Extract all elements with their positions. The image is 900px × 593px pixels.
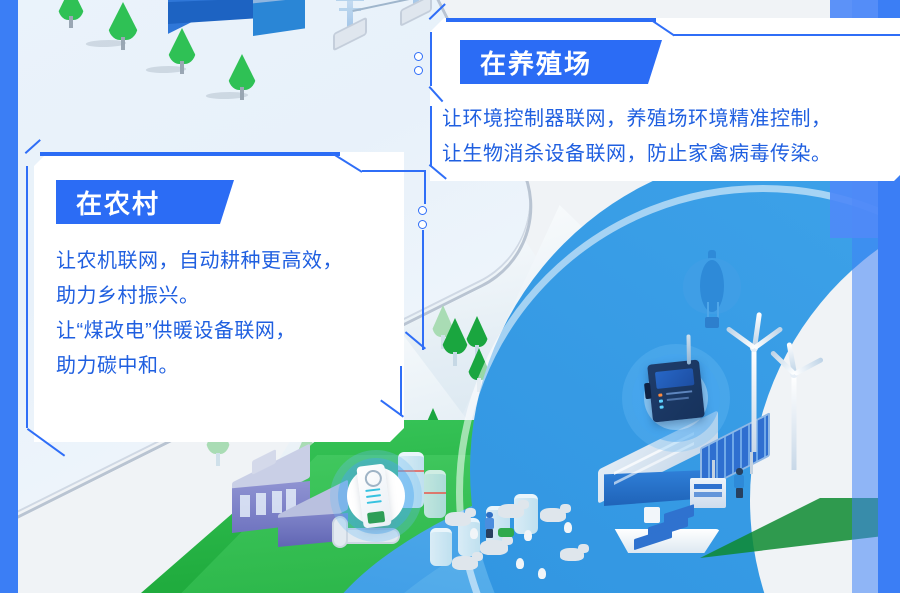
chicken-icon <box>516 558 524 569</box>
cow-icon <box>498 504 524 518</box>
industrial-building-icon <box>253 0 313 46</box>
left-edge-bar <box>0 0 18 593</box>
chicken-icon <box>564 522 572 533</box>
farmer-icon <box>733 468 745 498</box>
iot-gateway-device-icon <box>647 359 705 422</box>
farmer-icon <box>484 512 494 538</box>
sensor-port-icon <box>367 511 385 524</box>
antenna-icon <box>686 334 691 364</box>
ship-bridge <box>644 507 660 523</box>
cow-icon <box>452 556 478 570</box>
solar-panel-leg <box>750 452 753 474</box>
cabinet-slot <box>694 484 722 489</box>
cow-icon <box>445 512 471 526</box>
pine-tree-icon <box>58 0 84 28</box>
hot-air-balloon-icon <box>683 250 741 328</box>
gateway-led <box>659 405 663 408</box>
gateway-screen <box>655 368 695 389</box>
chicken-icon <box>524 530 532 541</box>
balloon-rope <box>717 302 719 318</box>
balloon-rope <box>707 302 709 318</box>
gateway-label-line <box>667 397 689 401</box>
gateway-led <box>658 393 662 396</box>
gateway-led <box>659 399 663 402</box>
storage-tank-icon <box>424 470 446 518</box>
sensor-indicator <box>365 488 380 492</box>
chicken-icon <box>538 568 546 579</box>
cargo-ship-icon <box>608 505 720 553</box>
sensor-indicator <box>367 500 382 504</box>
pine-tree-icon <box>442 318 468 366</box>
chicken-icon <box>470 528 478 539</box>
gateway-label-line <box>666 390 692 395</box>
card-farm: 在养殖场 让环境控制器联网，养殖场环境精准控制， 让生物消杀设备联网，防止家禽病… <box>430 18 900 181</box>
cabinet-slot <box>694 492 722 497</box>
tank-stripe <box>424 492 446 494</box>
balloon-basket <box>705 317 719 328</box>
sensor-indicator <box>366 494 381 498</box>
wind-turbine-icon <box>764 358 824 470</box>
cow-icon <box>560 548 584 561</box>
gateway-port <box>644 383 652 400</box>
poster-canvas: 在农村 让农机联网，自动耕种更高效， 助力乡村振兴。 让“煤改电”供暖设备联网，… <box>0 0 900 593</box>
card-countryside-badge: 在农村 <box>56 180 234 224</box>
balloon-envelope <box>683 258 741 314</box>
card-farm-badge: 在养殖场 <box>460 40 662 84</box>
feed-trough-icon <box>498 528 514 537</box>
sensor-dial-icon <box>364 469 383 488</box>
cow-icon <box>540 508 566 522</box>
card-countryside-body: 让农机联网，自动耕种更高效， 助力乡村振兴。 让“煤改电”供暖设备联网， 助力碳… <box>56 244 386 384</box>
storage-tank-icon <box>430 528 452 566</box>
card-farm-body: 让环境控制器联网，养殖场环境精准控制， 让生物消杀设备联网，防止家禽病毒传染。 <box>442 102 900 172</box>
card-countryside: 在农村 让农机联网，自动耕种更高效， 助力乡村振兴。 让“煤改电”供暖设备联网，… <box>34 152 404 442</box>
power-pylon-icon <box>330 0 370 38</box>
power-pylon-icon <box>398 0 434 14</box>
cow-icon <box>480 540 508 555</box>
